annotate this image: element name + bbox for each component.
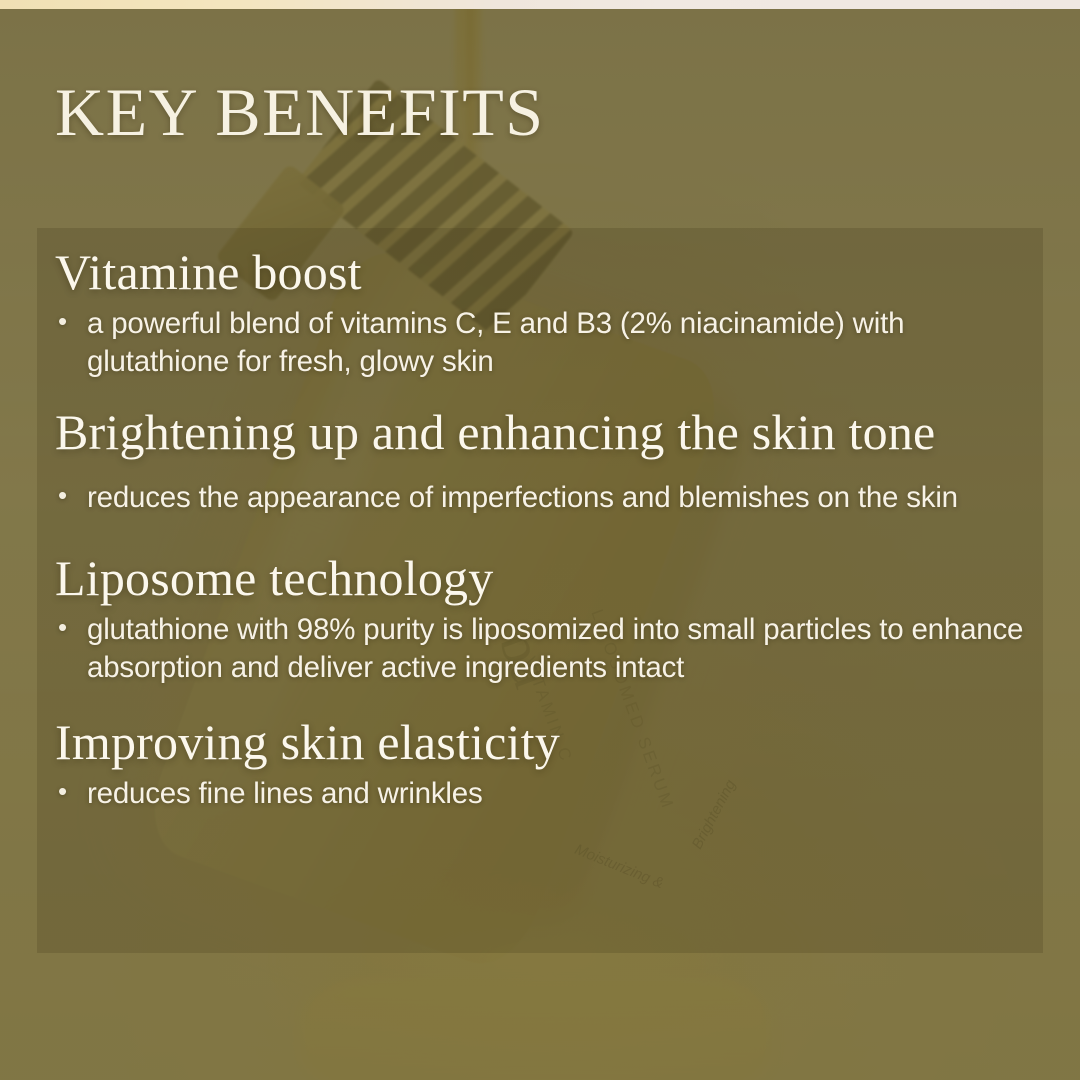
bullet-dot-icon: • [55, 611, 87, 645]
bullet-dot-icon: • [55, 305, 87, 339]
benefit-heading: Brightening up and enhancing the skin to… [55, 403, 1045, 463]
benefit-item: Vitamine boost • a powerful blend of vit… [55, 243, 1045, 381]
benefit-bullet: • reduces the appearance of imperfection… [55, 479, 1045, 517]
page-title: KEY BENEFITS [55, 78, 545, 146]
top-edge-strip [0, 0, 1080, 9]
benefit-heading: Vitamine boost [55, 243, 1045, 303]
benefit-bullet-text: reduces the appearance of imperfections … [87, 479, 1045, 517]
benefit-item: Liposome technology • glutathione with 9… [55, 549, 1045, 687]
benefits-list: Vitamine boost • a powerful blend of vit… [55, 243, 1045, 817]
benefit-bullet: • glutathione with 98% purity is liposom… [55, 611, 1045, 688]
benefit-bullet-text: a powerful blend of vitamins C, E and B3… [87, 305, 1045, 382]
benefit-item: Improving skin elasticity • reduces fine… [55, 713, 1045, 813]
key-benefits-graphic: ba VITAMIN C LIPOSOMED SERUM Moisturizin… [0, 0, 1080, 1080]
benefit-item: Brightening up and enhancing the skin to… [55, 403, 1045, 517]
benefit-bullet-text: reduces fine lines and wrinkles [87, 775, 1045, 813]
benefit-bullet: • reduces fine lines and wrinkles [55, 775, 1045, 813]
benefit-bullet: • a powerful blend of vitamins C, E and … [55, 305, 1045, 382]
benefit-heading: Liposome technology [55, 549, 1045, 609]
benefit-bullet-text: glutathione with 98% purity is liposomiz… [87, 611, 1045, 688]
bullet-dot-icon: • [55, 479, 87, 513]
benefit-heading: Improving skin elasticity [55, 713, 1045, 773]
bullet-dot-icon: • [55, 775, 87, 809]
